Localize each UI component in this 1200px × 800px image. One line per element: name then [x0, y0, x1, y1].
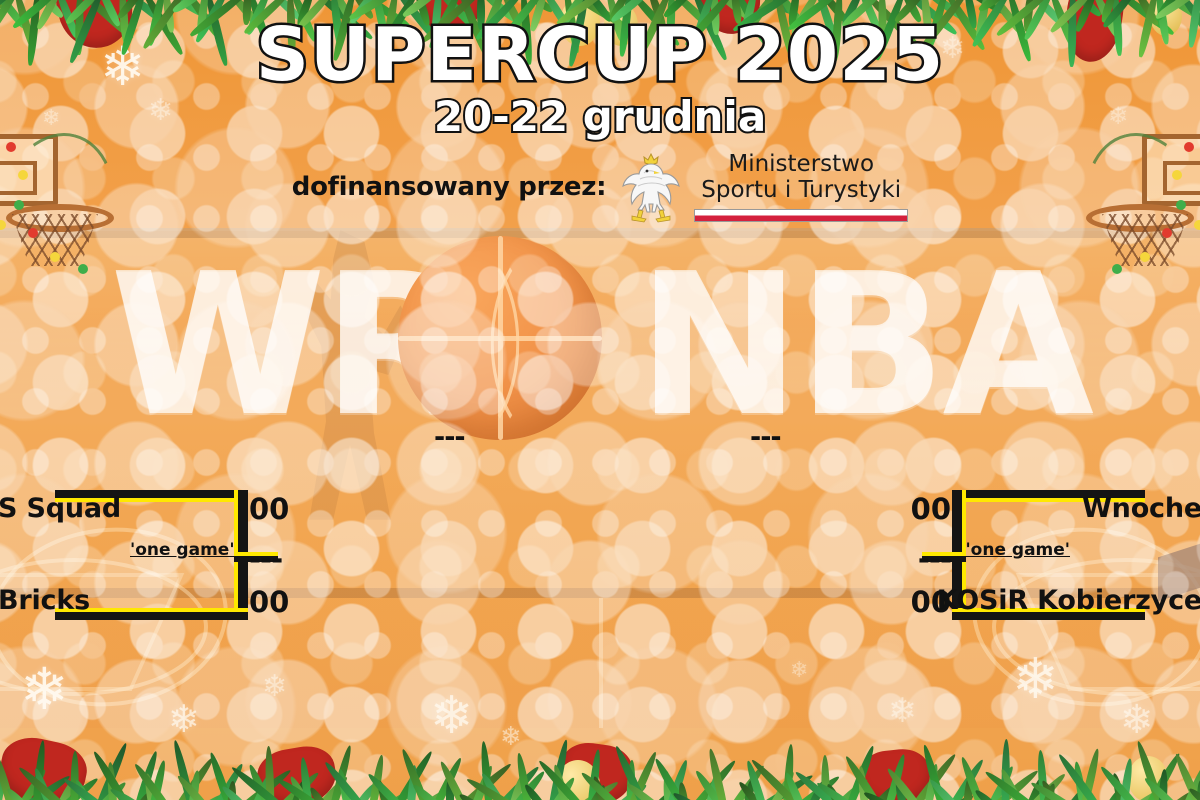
- polish-eagle-icon: [620, 148, 682, 226]
- snowflake-icon: ❄: [262, 672, 287, 702]
- light-bulb: [1162, 228, 1172, 238]
- page-title: SUPERCUP 2025: [0, 18, 1200, 92]
- ministry-line-1: Ministerstwo: [694, 152, 908, 178]
- light-bulb: [28, 228, 38, 238]
- ministry-name: Ministerstwo Sportu i Turystyki: [694, 152, 908, 223]
- match-bracket-bottom-right: Moneyball Basket Team 00 00 --- 'one gam…: [900, 505, 1200, 655]
- match-bracket-top-right: Wnoche KOSiR Kobierzyce 00 00 --- 'one g…: [900, 240, 1200, 390]
- match-bracket-bottom-left: Young Blood Na Legalu 00 00 --- 'one gam…: [0, 505, 300, 655]
- semifinal-result-left: ---: [434, 422, 465, 453]
- basketball-icon: [398, 236, 602, 440]
- polish-flag-bar: [694, 209, 908, 222]
- event-dates: 20-22 grudnia: [0, 96, 1200, 138]
- ministry-line-2: Sportu i Turystyki: [694, 178, 908, 204]
- funded-by-label: dofinansowany przez:: [292, 172, 606, 202]
- ministry-logo: Ministerstwo Sportu i Turystyki: [620, 148, 908, 226]
- match-bracket-top-left: S Squad Bricks 00 00 --- 'one game': [0, 240, 300, 390]
- tournament-bracket-poster: WR NBA ❄ ❄ ❄ ❄ ❄ ❄ ❄ ❄ ❄ ❄ ❄ ❄ ❄ ❄ ❄: [0, 0, 1200, 800]
- christmas-garland-bottom: [0, 700, 1200, 800]
- semifinal-result-right: ---: [750, 422, 781, 453]
- snowflake-icon: ❄: [790, 660, 808, 682]
- ball-seam-arc-right: [387, 236, 520, 450]
- funding-line: dofinansowany przez:: [0, 148, 1200, 226]
- poster-header: SUPERCUP 2025 20-22 grudnia dofinansowan…: [0, 18, 1200, 226]
